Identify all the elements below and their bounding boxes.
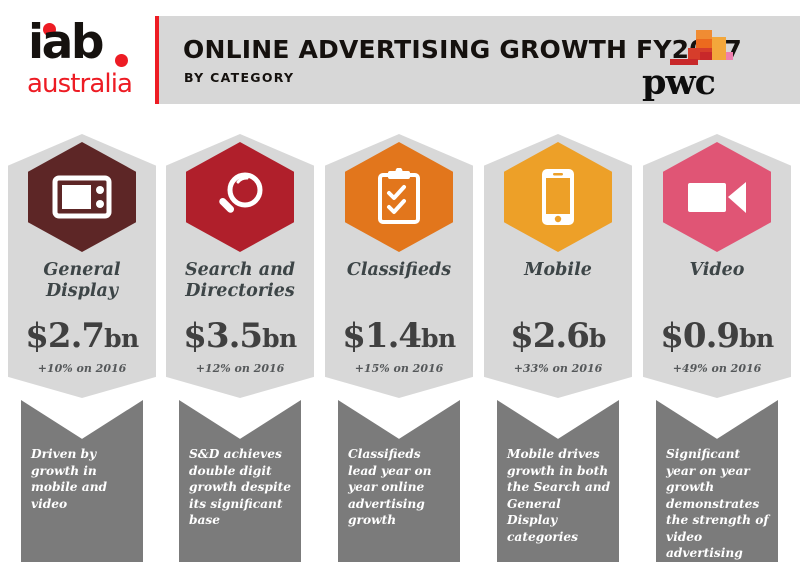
category-amount: $2.7bn	[8, 316, 156, 356]
category-panel: General Display $2.7bn +10% on 2016	[8, 134, 156, 398]
category-panel: Classifieds $1.4bn +15% on 2016	[325, 134, 473, 398]
category-hexagon	[504, 142, 612, 252]
category-label: Video	[647, 260, 787, 281]
pwc-wordmark: pwc	[642, 62, 715, 103]
magnifying-glass-icon	[212, 169, 268, 225]
header-accent-divider	[155, 16, 159, 104]
category-caption-text: Classifieds lead year on year online adv…	[348, 446, 452, 529]
category-panel: Mobile $2.6b +33% on 2016	[484, 134, 632, 398]
category-column-video[interactable]: Video $0.9bn +49% on 2016 Significant ye…	[643, 134, 791, 569]
category-column-general-display[interactable]: General Display $2.7bn +10% on 2016 Driv…	[8, 134, 156, 569]
category-caption-text: Driven by growth in mobile and video	[31, 446, 135, 512]
category-column-mobile[interactable]: Mobile $2.6b +33% on 2016 Mobile drives …	[484, 134, 632, 569]
category-growth: +33% on 2016	[484, 362, 632, 375]
category-amount: $2.6b	[484, 316, 632, 356]
category-column-search-and-directories[interactable]: Search and Directories $3.5bn +12% on 20…	[166, 134, 314, 569]
category-growth: +49% on 2016	[643, 362, 791, 375]
logo-brand-text: iab	[28, 18, 146, 68]
amount-unit: bn	[104, 324, 139, 353]
category-caption-text: S&D achieves double digit growth despite…	[189, 446, 293, 529]
pwc-logo: pwc	[644, 26, 744, 101]
category-caption-box: Significant year on year growth demonstr…	[656, 400, 778, 562]
category-growth: +12% on 2016	[166, 362, 314, 375]
category-hexagon	[28, 142, 136, 252]
category-caption-box: Mobile drives growth in both the Search …	[497, 400, 619, 562]
category-panel: Video $0.9bn +49% on 2016	[643, 134, 791, 398]
category-label: Classifieds	[329, 260, 469, 281]
category-label: Mobile	[488, 260, 628, 281]
video-camera-icon	[686, 177, 748, 217]
category-amount: $3.5bn	[166, 316, 314, 356]
category-caption-text: Significant year on year growth demonstr…	[666, 446, 770, 562]
amount-value: $0.9	[660, 316, 739, 356]
amount-unit: bn	[421, 324, 456, 353]
amount-unit: bn	[739, 324, 774, 353]
category-caption-box: Classifieds lead year on year online adv…	[338, 400, 460, 562]
category-hexagon	[663, 142, 771, 252]
category-caption-box: S&D achieves double digit growth despite…	[179, 400, 301, 562]
iab-australia-logo: iab australia	[26, 18, 144, 104]
category-amount: $1.4bn	[325, 316, 473, 356]
category-column-classifieds[interactable]: Classifieds $1.4bn +15% on 2016 Classifi…	[325, 134, 473, 569]
display-monitor-icon	[52, 173, 112, 221]
category-caption-text: Mobile drives growth in both the Search …	[507, 446, 611, 545]
category-caption-box: Driven by growth in mobile and video	[21, 400, 143, 562]
category-panel: Search and Directories $3.5bn +12% on 20…	[166, 134, 314, 398]
category-hexagon	[345, 142, 453, 252]
amount-unit: b	[589, 324, 606, 353]
header: iab australia ONLINE ADVERTISING GROWTH …	[0, 14, 800, 109]
category-columns: General Display $2.7bn +10% on 2016 Driv…	[0, 134, 800, 569]
category-amount: $0.9bn	[643, 316, 791, 356]
category-growth: +10% on 2016	[8, 362, 156, 375]
category-hexagon	[186, 142, 294, 252]
category-growth: +15% on 2016	[325, 362, 473, 375]
smartphone-icon	[539, 166, 577, 228]
category-label: General Display	[12, 260, 152, 302]
logo-region-text: australia	[27, 70, 145, 98]
amount-unit: bn	[262, 324, 297, 353]
amount-value: $3.5	[183, 316, 262, 356]
page-subtitle: BY CATEGORY	[184, 70, 294, 85]
category-label: Search and Directories	[170, 260, 310, 302]
amount-value: $2.6	[510, 316, 589, 356]
clipboard-checklist-icon	[376, 168, 422, 226]
header-bar: ONLINE ADVERTISING GROWTH FY2017 BY CATE…	[155, 16, 800, 104]
amount-value: $1.4	[342, 316, 421, 356]
amount-value: $2.7	[25, 316, 104, 356]
